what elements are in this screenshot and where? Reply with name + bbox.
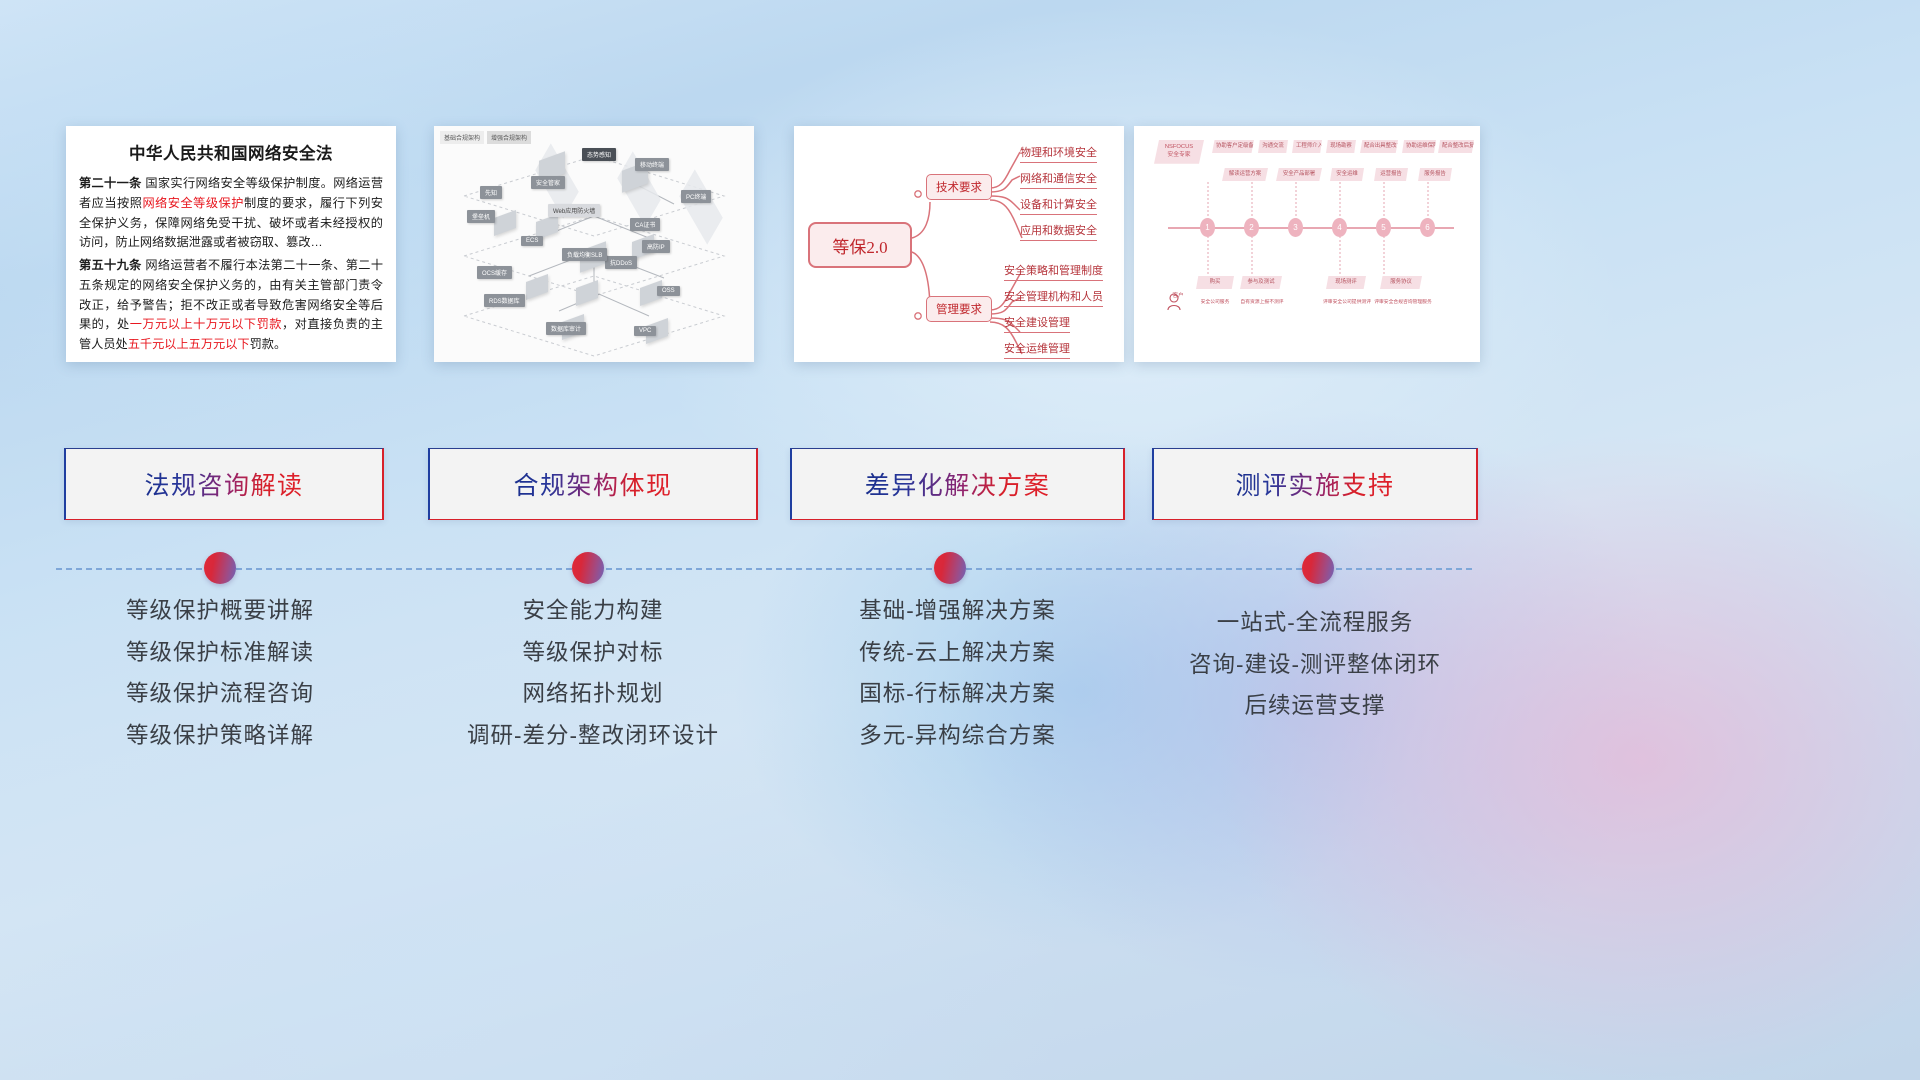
- list-item: 国标-行标解决方案: [790, 683, 1125, 706]
- section-title-label: 合规架构体现: [513, 466, 672, 502]
- bottom-tag-sub: 评审安全公司提供测评: [1318, 298, 1376, 305]
- nsfocus-expert-badge: NSFOCUS 安全专家: [1154, 140, 1204, 164]
- timeline-dashed-line: [56, 568, 1472, 570]
- list-item: 传统-云上解决方案: [790, 642, 1125, 665]
- arch-node-ecs: ECS: [521, 236, 543, 246]
- bottom-tag-sub: 自有资源上报不测评: [1234, 298, 1290, 305]
- card-compliance-architecture: 基础合规架构 增强合规架构: [434, 126, 754, 362]
- card-nsfocus-service-flow: NSFOCUS 安全专家 协助客户定级备案及立项 沟通交流 工程师介入 现场勘察…: [1134, 126, 1480, 362]
- list-item: 基础-增强解决方案: [790, 600, 1125, 623]
- section-title-box-4[interactable]: 测评实施支持: [1152, 448, 1478, 520]
- expert-role: 安全专家: [1156, 151, 1202, 159]
- article-21-highlight: 网络安全等级保护: [142, 196, 244, 210]
- mindmap-leaf: 安全策略和管理制度: [1004, 262, 1103, 281]
- bottom-tag-title: 现场测评: [1326, 276, 1366, 289]
- section-title-label: 测评实施支持: [1235, 466, 1394, 502]
- card-dengbao-mindmap: 等保2.0 技术要求 管理要求 物理和环境安全 网络和通信安全 设备和计算安全 …: [794, 126, 1124, 362]
- top-tag: 现场勘察: [1326, 140, 1356, 153]
- expert-brand: NSFOCUS: [1156, 143, 1202, 151]
- mindmap-leaf: 安全管理机构和人员: [1004, 288, 1103, 307]
- detail-column-2: 安全能力构建 等级保护对标 网络拓扑规划 调研-差分-整改闭环设计: [428, 600, 758, 766]
- article-21-label: 第二十一条: [79, 176, 142, 190]
- mindmap-leaf: 设备和计算安全: [1020, 196, 1097, 215]
- image-card-row: 中华人民共和国网络安全法 第二十一条 国家实行网络安全等级保护制度。网络运营者应…: [0, 126, 1920, 362]
- arch-node-anti-ddos: 抗DDoS: [605, 256, 637, 269]
- list-item: 一站式-全流程服务: [1150, 612, 1480, 635]
- step-number: 4: [1332, 218, 1347, 237]
- timeline-dot-1[interactable]: [204, 552, 236, 584]
- list-item: 等级保护概要讲解: [60, 600, 380, 623]
- mindmap-leaf: 应用和数据安全: [1020, 222, 1097, 241]
- step-number: 3: [1288, 218, 1303, 237]
- detail-column-1: 等级保护概要讲解 等级保护标准解读 等级保护流程咨询 等级保护策略详解: [60, 600, 380, 766]
- arch-node-high-defense-ip: 高防IP: [642, 240, 670, 253]
- mindmap-collapse-node[interactable]: [915, 313, 921, 319]
- top-tag: 沟通交流: [1258, 140, 1288, 153]
- article-21-paragraph: 第二十一条 国家实行网络安全等级保护制度。网络运营者应当按照网络安全等级保护制度…: [79, 174, 383, 253]
- detail-column-4: 一站式-全流程服务 咨询-建设-测评整体闭环 后续运营支撑: [1150, 600, 1480, 737]
- section-title-label: 差异化解决方案: [865, 466, 1051, 502]
- mindmap-root-node: 等保2.0: [808, 222, 912, 268]
- arch-node-mobile-terminal: 移动终端: [635, 158, 669, 171]
- service-flow-infographic: NSFOCUS 安全专家 协助客户定级备案及立项 沟通交流 工程师介入 现场勘察…: [1134, 126, 1480, 362]
- document-title: 中华人民共和国网络安全法: [79, 140, 383, 164]
- bottom-tag-title: 参与及测试: [1240, 276, 1282, 289]
- list-item: 安全能力构建: [428, 600, 758, 623]
- step-number: 1: [1200, 218, 1215, 237]
- detail-list-row: 等级保护概要讲解 等级保护标准解读 等级保护流程咨询 等级保护策略详解 安全能力…: [0, 600, 1920, 810]
- step-number: 5: [1376, 218, 1391, 237]
- section-title-box-3[interactable]: 差异化解决方案: [790, 448, 1125, 520]
- list-item: 调研-差分-整改闭环设计: [428, 725, 758, 748]
- timeline-dot-4[interactable]: [1302, 552, 1334, 584]
- article-59-label: 第五十九条: [79, 258, 142, 272]
- step-number: 2: [1244, 218, 1259, 237]
- card-cybersecurity-law: 中华人民共和国网络安全法 第二十一条 国家实行网络安全等级保护制度。网络运营者应…: [66, 126, 396, 362]
- step-tag: 解读运营方案: [1222, 168, 1268, 181]
- bottom-tag-title: 购买: [1196, 276, 1234, 289]
- list-item: 等级保护策略详解: [60, 725, 380, 748]
- step-tag: 服务报告: [1418, 168, 1452, 181]
- section-title-row: 法规咨询解读 合规架构体现 差异化解决方案 测评实施支持: [0, 448, 1920, 520]
- list-item: 网络拓扑规划: [428, 683, 758, 706]
- list-item: 多元-异构综合方案: [790, 725, 1125, 748]
- mindmap-branch-technical: 技术要求: [926, 174, 992, 200]
- article-59-highlight-1: 一万元以上十万元以下罚款: [130, 317, 282, 331]
- section-title-box-2[interactable]: 合规架构体现: [428, 448, 758, 520]
- arch-node-situational-awareness: 态势感知: [582, 148, 616, 161]
- arch-node-rds-database: RDS数据库: [484, 294, 525, 307]
- detail-column-3: 基础-增强解决方案 传统-云上解决方案 国标-行标解决方案 多元-异构综合方案: [790, 600, 1125, 766]
- section-title-box-1[interactable]: 法规咨询解读: [64, 448, 384, 520]
- step-number: 6: [1420, 218, 1435, 237]
- list-item: 等级保护流程咨询: [60, 683, 380, 706]
- top-tag: 协助客户定级备案及立项: [1212, 140, 1254, 153]
- timeline: [0, 546, 1920, 594]
- architecture-diagram: 基础合规架构 增强合规架构: [434, 126, 754, 362]
- section-title-label: 法规咨询解读: [144, 466, 303, 502]
- arch-node-security-butler: 安全管家: [531, 176, 565, 189]
- mindmap-branch-management: 管理要求: [926, 296, 992, 322]
- arch-node-ca-certificate: CA证书: [630, 218, 660, 231]
- bottom-tag-sub: 评审安全合规咨询管理服务: [1372, 298, 1434, 305]
- bottom-tag-sub: 安全公司服务: [1190, 298, 1240, 305]
- top-tag: 配合整改后复测及安全运营服务工作: [1438, 140, 1474, 153]
- arch-node-foreknowledge: 先知: [480, 186, 502, 199]
- top-tag: 协助运维保障工作: [1402, 140, 1436, 153]
- legal-document: 中华人民共和国网络安全法 第二十一条 国家实行网络安全等级保护制度。网络运营者应…: [66, 126, 396, 362]
- mindmap-collapse-node[interactable]: [915, 191, 921, 197]
- step-tag: 安全运维: [1330, 168, 1364, 181]
- arch-node-pc-terminal: PC终端: [681, 190, 711, 203]
- arch-node-bastion-host: 堡垒机: [467, 210, 495, 223]
- list-item: 后续运营支撑: [1150, 695, 1480, 718]
- top-tag: 工程师介入: [1292, 140, 1322, 153]
- step-tag: 安全产品部署: [1276, 168, 1322, 181]
- mindmap: 等保2.0 技术要求 管理要求 物理和环境安全 网络和通信安全 设备和计算安全 …: [794, 126, 1124, 362]
- arch-node-slb: 负载均衡SLB: [562, 248, 607, 261]
- list-item: 咨询-建设-测评整体闭环: [1150, 654, 1480, 677]
- timeline-dot-3[interactable]: [934, 552, 966, 584]
- list-item: 等级保护标准解读: [60, 642, 380, 665]
- arch-node-database-audit: 数据库审计: [546, 322, 586, 335]
- top-tag: 配合出具整改方案: [1360, 140, 1398, 153]
- arch-node-waf: Web应用防火墙: [548, 204, 600, 217]
- mindmap-leaf: 安全运维管理: [1004, 340, 1070, 359]
- list-item: 等级保护对标: [428, 642, 758, 665]
- article-59-paragraph: 第五十九条 网络运营者不履行本法第二十一条、第二十五条规定的网络安全保护义务的，…: [79, 256, 383, 355]
- arch-node-oss: OSS: [657, 286, 680, 296]
- bottom-tag-title: 服务协议: [1380, 276, 1422, 289]
- arch-node-ocs-cache: OCS缓存: [477, 266, 512, 279]
- article-59-text-c: 罚款。: [250, 337, 287, 351]
- article-59-highlight-2: 五千元以上五万元以下: [128, 337, 250, 351]
- poster-stage: 中华人民共和国网络安全法 第二十一条 国家实行网络安全等级保护制度。网络运营者应…: [0, 0, 1920, 1080]
- mindmap-leaf: 物理和环境安全: [1020, 144, 1097, 163]
- mindmap-leaf: 安全建设管理: [1004, 314, 1070, 333]
- arch-node-vpc: VPC: [634, 326, 656, 336]
- timeline-dot-2[interactable]: [572, 552, 604, 584]
- mindmap-leaf: 网络和通信安全: [1020, 170, 1097, 189]
- step-tag: 运营报告: [1374, 168, 1408, 181]
